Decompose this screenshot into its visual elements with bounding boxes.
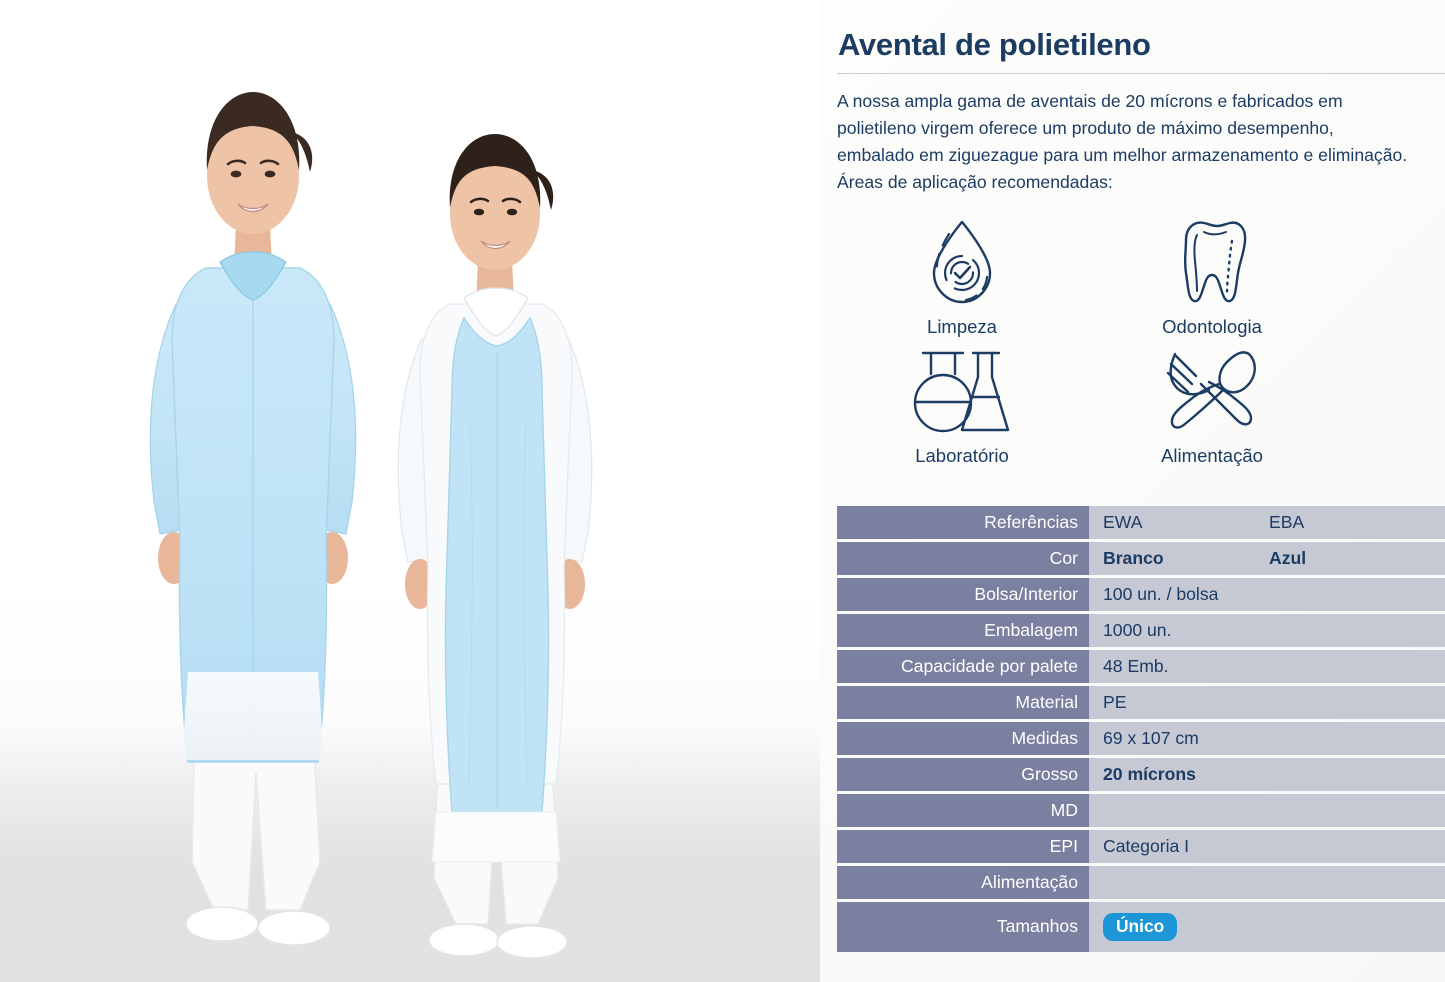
row-label: Capacidade por palete: [837, 650, 1089, 683]
row-label: Embalagem: [837, 614, 1089, 647]
table-row: MD: [837, 794, 1445, 827]
row-values: 1000 un.: [1089, 614, 1445, 647]
row-value-1: Categoria I: [1103, 838, 1269, 856]
table-row: Capacidade por palete 48 Emb.: [837, 650, 1445, 683]
table-row: EPI Categoria I: [837, 830, 1445, 863]
row-values: Categoria I: [1089, 830, 1445, 863]
table-row: Embalagem 1000 un.: [837, 614, 1445, 647]
row-label: Alimentação: [837, 866, 1089, 899]
row-value-1: 48 Emb.: [1103, 658, 1269, 676]
model-photo-right: [336, 122, 656, 982]
row-value-1: Branco: [1103, 550, 1269, 568]
row-values: [1089, 866, 1445, 899]
lab-flasks-icon: [909, 343, 1015, 441]
specification-table: Referências EWA EBA Cor Branco Azul Bols…: [837, 506, 1445, 955]
row-values: Único: [1089, 902, 1445, 952]
product-datasheet: Avental de polietileno A nossa ampla gam…: [0, 0, 1445, 982]
table-row: Cor Branco Azul: [837, 542, 1445, 575]
title-divider: [837, 73, 1445, 74]
row-values: EWA EBA: [1089, 506, 1445, 539]
application-label: Alimentação: [1161, 444, 1263, 468]
intro-block: A nossa ampla gama de aventais de 20 míc…: [837, 88, 1409, 196]
application-item-odontologia: Odontologia: [1087, 214, 1337, 339]
row-value-1: PE: [1103, 694, 1269, 712]
row-values: 48 Emb.: [1089, 650, 1445, 683]
row-value-1: 69 x 107 cm: [1103, 730, 1269, 748]
row-value-1: EWA: [1103, 514, 1269, 532]
table-row: Referências EWA EBA: [837, 506, 1445, 539]
row-label: MD: [837, 794, 1089, 827]
row-value-2: Azul: [1269, 550, 1306, 568]
row-values: 69 x 107 cm: [1089, 722, 1445, 755]
application-icons: Limpeza Odontologia: [837, 214, 1337, 468]
row-label: Medidas: [837, 722, 1089, 755]
row-label: Tamanhos: [837, 902, 1089, 952]
page-title: Avental de polietileno: [837, 28, 1445, 62]
applications-lead: Áreas de aplicação recomendadas:: [837, 169, 1409, 196]
row-values: 100 un. / bolsa: [1089, 578, 1445, 611]
water-drop-check-icon: [916, 214, 1008, 312]
table-row: Bolsa/Interior 100 un. / bolsa: [837, 578, 1445, 611]
row-label: Referências: [837, 506, 1089, 539]
application-label: Laboratório: [915, 444, 1009, 468]
row-values: 20 mícrons: [1089, 758, 1445, 791]
row-values: [1089, 794, 1445, 827]
application-label: Odontologia: [1162, 315, 1262, 339]
table-row: Alimentação: [837, 866, 1445, 899]
tooth-icon: [1166, 214, 1258, 312]
row-value-1: 20 mícrons: [1103, 766, 1269, 784]
row-values: PE: [1089, 686, 1445, 719]
row-value-1: 100 un. / bolsa: [1103, 586, 1269, 604]
row-label: Bolsa/Interior: [837, 578, 1089, 611]
application-item-alimentacao: Alimentação: [1087, 343, 1337, 468]
row-value-2: EBA: [1269, 514, 1304, 532]
application-label: Limpeza: [927, 315, 997, 339]
table-row: Material PE: [837, 686, 1445, 719]
table-row: Grosso 20 mícrons: [837, 758, 1445, 791]
intro-paragraph: A nossa ampla gama de aventais de 20 míc…: [837, 88, 1409, 169]
table-row: Medidas 69 x 107 cm: [837, 722, 1445, 755]
size-badge-unico[interactable]: Único: [1103, 913, 1177, 941]
row-label: Grosso: [837, 758, 1089, 791]
fork-spoon-icon: [1163, 343, 1261, 441]
row-label: EPI: [837, 830, 1089, 863]
row-values: Branco Azul: [1089, 542, 1445, 575]
row-label: Material: [837, 686, 1089, 719]
row-label: Cor: [837, 542, 1089, 575]
row-value-1: 1000 un.: [1103, 622, 1269, 640]
application-item-laboratorio: Laboratório: [837, 343, 1087, 468]
product-photo-pane: [0, 0, 820, 982]
application-item-limpeza: Limpeza: [837, 214, 1087, 339]
product-info-pane: Avental de polietileno A nossa ampla gam…: [820, 0, 1445, 982]
table-row-sizes: Tamanhos Único: [837, 902, 1445, 952]
